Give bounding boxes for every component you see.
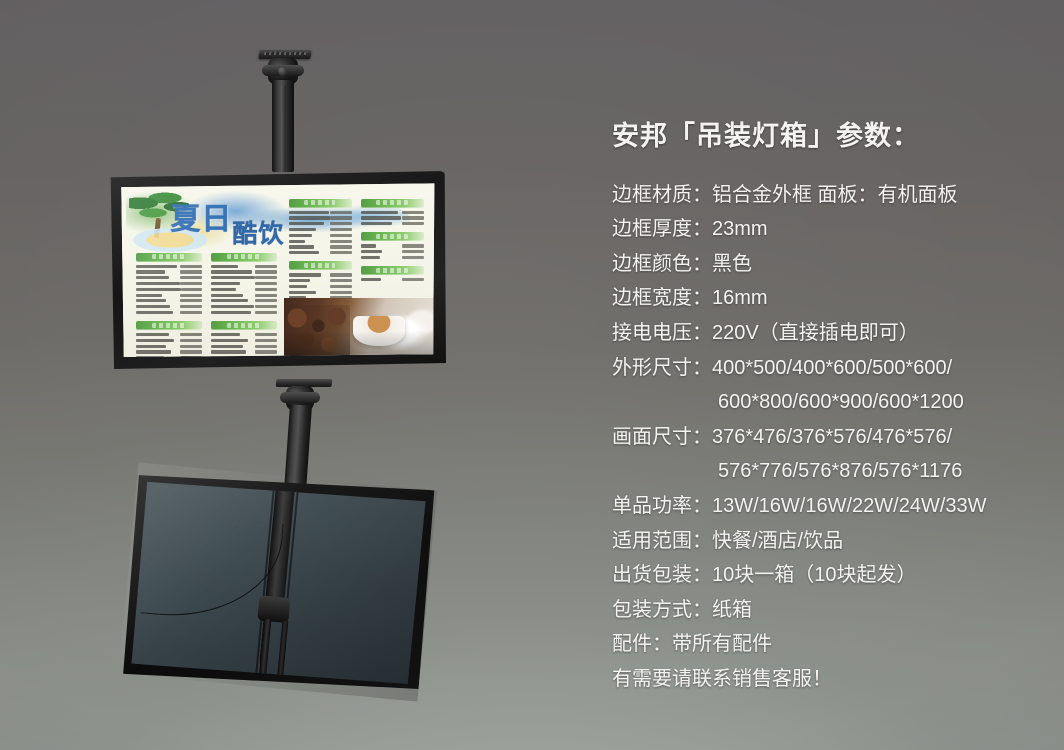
menu-item-name	[136, 345, 166, 348]
menu-item-price	[255, 276, 277, 279]
menu-row	[289, 222, 352, 225]
menu-item-name	[211, 288, 236, 291]
menu-row	[136, 282, 202, 285]
menu-row	[136, 270, 202, 273]
menu-row	[361, 222, 424, 225]
menu-row	[289, 211, 352, 214]
menu-row	[361, 278, 424, 281]
menu-item-name	[361, 250, 382, 253]
menu-item-price	[330, 234, 352, 237]
menu-item-name	[136, 276, 169, 279]
menu-row-group	[289, 211, 352, 255]
menu-item-name	[211, 276, 255, 279]
menu-item-name	[289, 228, 317, 231]
menu-row	[289, 273, 352, 276]
menu-item-name	[289, 279, 310, 282]
menu-item-price	[255, 299, 277, 302]
menu-item-name	[289, 222, 324, 225]
menu-item-price	[180, 305, 202, 308]
menu-row	[211, 299, 277, 302]
menu-item-price	[402, 278, 424, 281]
menu-item-price	[330, 211, 352, 214]
menu-item-price	[330, 279, 352, 282]
menu-row	[211, 345, 277, 348]
menu-section-header	[136, 321, 202, 330]
menu-section-header	[136, 253, 202, 262]
rear-panel	[129, 474, 428, 690]
menu-item-name	[361, 278, 381, 281]
menu-item-price	[180, 350, 202, 353]
menu-item-name	[211, 339, 248, 342]
menu-item-price	[255, 282, 277, 285]
menu-item-name	[211, 294, 243, 297]
menu-row-group	[361, 211, 424, 226]
menu-row	[211, 276, 277, 279]
menu-item-price	[255, 270, 277, 273]
menu-section-header	[361, 232, 424, 241]
menu-item-name	[289, 251, 319, 254]
menu-item-price	[180, 265, 202, 268]
menu-column-2	[211, 253, 277, 357]
menu-row	[136, 339, 202, 342]
menu-item-name	[136, 288, 181, 291]
specification-panel: 安邦「吊装灯箱」参数： 边框材质：铝合金外框 面板：有机面板边框厚度：23mm边…	[612, 122, 1042, 697]
menu-item-name	[211, 345, 243, 348]
spec-title: 安邦「吊装灯箱」参数：	[612, 122, 1042, 152]
menu-item-price	[402, 222, 424, 225]
menu-item-name	[136, 311, 173, 314]
menu-row	[289, 216, 352, 219]
menu-row	[211, 282, 277, 285]
menu-row	[211, 311, 277, 314]
menu-row	[136, 311, 202, 314]
menu-item-name	[289, 211, 329, 214]
menu-item-price	[180, 333, 202, 336]
menu-item-name	[289, 240, 305, 243]
menu-item-price	[402, 256, 424, 259]
menu-item-price	[255, 339, 277, 342]
menu-row	[289, 279, 352, 282]
menu-row	[289, 245, 352, 248]
menu-section-header	[289, 199, 352, 208]
menu-title-char-3: 酷	[232, 221, 256, 246]
menu-row-group	[211, 265, 277, 314]
menu-item-price	[330, 222, 352, 225]
menu-item-name	[289, 216, 331, 219]
menu-item-price	[330, 216, 351, 219]
spec-line: 配件：带所有配件	[612, 627, 1042, 662]
coffee-photo-shadow	[284, 298, 435, 357]
menu-item-name	[211, 299, 248, 302]
menu-row	[136, 276, 202, 279]
menu-row	[361, 211, 424, 214]
menu-item-price	[255, 265, 277, 268]
menu-row-group	[361, 244, 424, 259]
menu-item-name	[136, 339, 174, 342]
menu-row-group	[289, 273, 352, 299]
light-box-rear-view	[119, 462, 438, 701]
menu-item-price	[402, 216, 424, 219]
menu-section-header	[289, 261, 352, 270]
mount-plate-screws	[264, 52, 306, 55]
spec-line: 外形尺寸：400*500/400*600/500*600/	[612, 351, 1042, 386]
menu-section-header	[361, 199, 424, 208]
menu-row	[361, 250, 424, 253]
menu-item-price	[255, 294, 277, 297]
menu-item-name	[136, 333, 169, 336]
menu-item-price	[255, 311, 277, 314]
menu-row	[211, 305, 277, 308]
menu-item-price	[330, 285, 352, 288]
menu-item-price	[180, 282, 202, 285]
mount-pole-top-highlight	[281, 86, 286, 172]
menu-item-name	[136, 305, 170, 308]
product-photo: 夏 日 酷 饮	[0, 0, 520, 750]
menu-row	[211, 350, 277, 353]
menu-item-price	[330, 291, 352, 294]
spec-line: 边框厚度：23mm	[612, 212, 1042, 247]
menu-row	[211, 270, 277, 273]
menu-title-char-2: 日	[201, 205, 230, 235]
menu-section-header	[361, 266, 424, 275]
menu-item-price	[255, 345, 277, 348]
menu-item-price	[330, 245, 352, 248]
menu-item-price	[255, 350, 277, 353]
menu-item-name	[211, 282, 240, 285]
spec-line: 画面尺寸：376*476/376*576/476*576/	[612, 420, 1042, 455]
spec-line: 出货包装：10块一箱（10块起发）	[612, 558, 1042, 593]
menu-item-name	[211, 305, 253, 308]
spec-line: 包装方式：纸箱	[612, 593, 1042, 628]
menu-item-name	[361, 222, 393, 225]
menu-item-price	[330, 251, 352, 254]
menu-section-header	[211, 321, 277, 330]
menu-item-name	[136, 299, 166, 302]
menu-row	[136, 288, 202, 291]
menu-item-name	[136, 350, 172, 353]
menu-item-name	[289, 291, 317, 294]
menu-item-name	[211, 265, 237, 268]
menu-row	[289, 285, 352, 288]
menu-row	[361, 256, 424, 259]
menu-row-group	[211, 333, 277, 357]
menu-row	[136, 333, 202, 336]
menu-title-char-1: 夏	[170, 205, 199, 235]
menu-light-box-front: 夏 日 酷 饮	[108, 171, 446, 369]
menu-row	[211, 294, 277, 297]
menu-item-name	[211, 311, 251, 314]
menu-row	[289, 228, 352, 231]
spec-line: 接电电压：220V（直接插电即可）	[612, 316, 1042, 351]
menu-row	[136, 294, 202, 297]
spec-line: 576*776/576*876/576*1176	[612, 454, 1042, 489]
menu-row	[211, 265, 277, 268]
menu-item-name	[361, 244, 376, 247]
spec-line: 适用范围：快餐/酒店/饮品	[612, 524, 1042, 559]
menu-row-group	[136, 265, 202, 314]
menu-item-name	[211, 270, 252, 273]
menu-item-name	[136, 270, 165, 273]
menu-item-name	[211, 350, 245, 353]
spec-line: 单品功率：13W/16W/16W/22W/24W/33W	[612, 489, 1042, 524]
menu-item-price	[330, 273, 352, 276]
menu-item-name	[289, 273, 322, 276]
menu-artwork: 夏 日 酷 饮	[120, 183, 435, 357]
screenshot-canvas: 夏 日 酷 饮	[0, 0, 1064, 750]
menu-item-price	[180, 276, 202, 279]
menu-item-name	[289, 285, 308, 288]
rear-support-rail	[277, 621, 288, 678]
menu-row	[136, 265, 202, 268]
menu-title-char-4: 饮	[258, 221, 282, 246]
menu-row	[289, 234, 352, 237]
menu-row	[289, 251, 352, 254]
menu-item-price	[402, 244, 424, 247]
menu-item-price	[180, 270, 202, 273]
menu-row	[289, 240, 352, 243]
menu-row-group	[361, 278, 424, 281]
menu-item-name	[136, 265, 177, 268]
menu-item-name	[361, 216, 401, 219]
menu-item-name	[136, 294, 162, 297]
menu-item-name	[289, 234, 313, 237]
menu-item-price	[180, 339, 202, 342]
spec-line: 边框材质：铝合金外框 面板：有机面板	[612, 178, 1042, 213]
spec-line-list: 边框材质：铝合金外框 面板：有机面板边框厚度：23mm边框颜色：黑色边框宽度：1…	[612, 178, 1042, 697]
menu-item-price	[180, 299, 202, 302]
menu-row	[211, 339, 277, 342]
menu-item-name	[289, 245, 314, 248]
menu-item-price	[180, 345, 202, 348]
menu-item-price	[181, 288, 202, 291]
menu-item-price	[255, 305, 277, 308]
spec-line: 边框宽度：16mm	[612, 281, 1042, 316]
spec-line: 边框颜色：黑色	[612, 247, 1042, 282]
menu-row	[136, 299, 202, 302]
menu-item-name	[136, 282, 180, 285]
menu-row-group	[136, 333, 202, 357]
menu-row	[361, 216, 424, 219]
menu-row	[211, 288, 277, 291]
spec-line: 600*800/600*900/600*1200	[612, 385, 1042, 420]
menu-item-name	[211, 333, 240, 336]
menu-item-name	[361, 211, 398, 214]
menu-item-price	[255, 288, 277, 291]
menu-item-price	[330, 228, 352, 231]
menu-item-name	[361, 256, 380, 259]
menu-column-1	[136, 253, 202, 357]
menu-item-price	[402, 250, 424, 253]
menu-item-price	[330, 240, 352, 243]
menu-section-header	[211, 253, 277, 262]
menu-row	[136, 305, 202, 308]
light-box-screen: 夏 日 酷 饮	[120, 183, 435, 357]
menu-row	[289, 291, 352, 294]
menu-row	[136, 350, 202, 353]
menu-row	[136, 345, 202, 348]
menu-item-price	[180, 311, 202, 314]
menu-row	[361, 244, 424, 247]
menu-row	[211, 333, 277, 336]
spec-line: 有需要请联系销售客服！	[612, 662, 1042, 697]
menu-item-price	[402, 211, 424, 214]
menu-column-4	[361, 199, 424, 289]
menu-item-price	[180, 294, 202, 297]
menu-item-price	[255, 333, 277, 336]
menu-column-3	[289, 199, 352, 307]
